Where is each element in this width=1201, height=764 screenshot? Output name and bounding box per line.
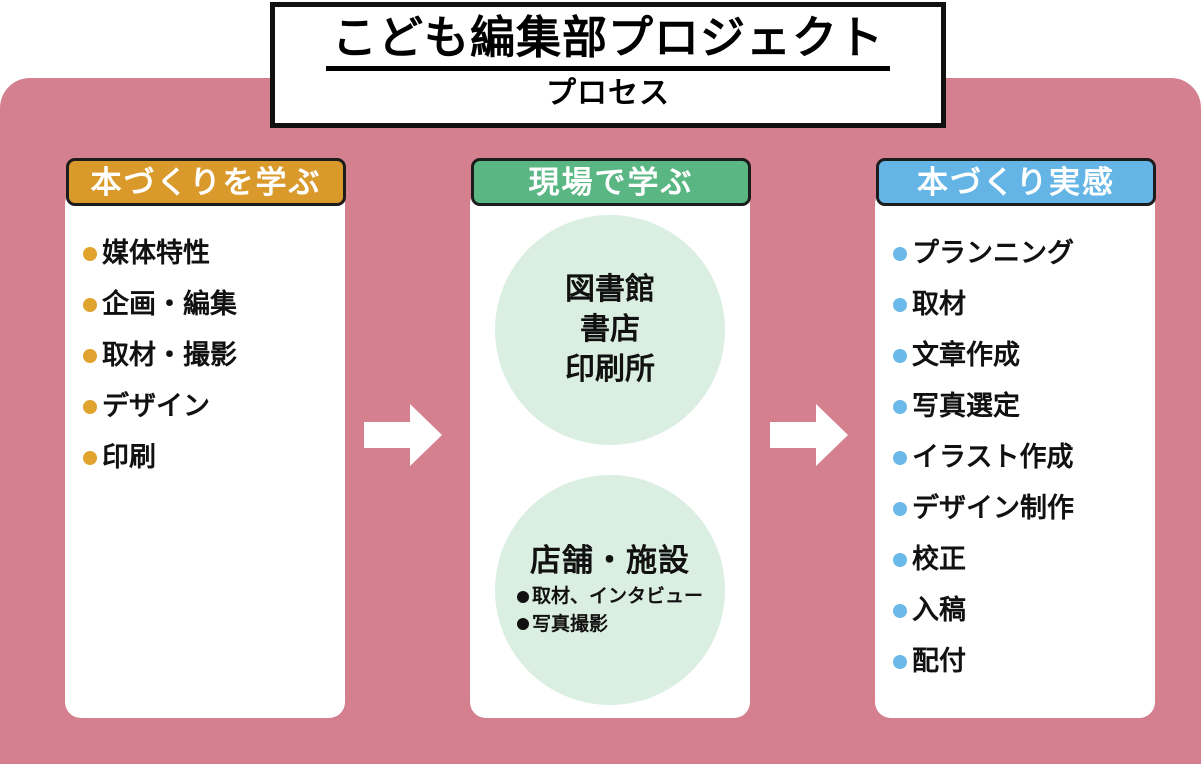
arrow-right-icon xyxy=(364,404,442,466)
list-item: 印刷 xyxy=(65,432,345,483)
column-1-list: 媒体特性 企画・編集 取材・撮影 デザイン 印刷 xyxy=(65,228,345,483)
venue-line: 図書館 xyxy=(565,270,655,310)
list-item: 写真選定 xyxy=(875,381,1155,432)
bullet-dot-icon xyxy=(893,655,907,669)
list-item: 写真撮影 xyxy=(517,611,703,639)
bullet-dot-icon xyxy=(83,298,97,312)
list-item-label: 文章作成 xyxy=(912,342,1020,369)
venue-activity-list: 取材、インタビュー 写真撮影 xyxy=(517,583,703,638)
list-item: 取材 xyxy=(875,279,1155,330)
column-header-1-label: 本づくりを学ぶ xyxy=(91,167,322,198)
title-box: こども編集部プロジェクト プロセス xyxy=(270,2,946,128)
bullet-dot-icon xyxy=(83,400,97,414)
list-item: 文章作成 xyxy=(875,330,1155,381)
list-item-label: プランニング xyxy=(912,240,1074,267)
venue-line: 印刷所 xyxy=(565,350,655,390)
column-header-2: 現場で学ぶ xyxy=(471,158,751,206)
arrow-right-icon xyxy=(770,404,848,466)
list-item: 企画・編集 xyxy=(65,279,345,330)
list-item-label: デザイン制作 xyxy=(912,495,1074,522)
venue-circle-title: 店舗・施設 xyxy=(530,542,690,579)
list-item-label: 企画・編集 xyxy=(102,291,237,318)
list-item-label: デザイン xyxy=(102,393,210,420)
list-item: 取材、インタビュー xyxy=(517,583,703,611)
column-header-3: 本づくり実感 xyxy=(876,158,1156,206)
list-item-label: 入稿 xyxy=(912,597,966,624)
list-item-label: 校正 xyxy=(912,546,966,573)
list-item-label: 取材 xyxy=(912,291,966,318)
diagram-canvas: こども編集部プロジェクト プロセス 本づくりを学ぶ 現場で学ぶ 本づくり実感 媒… xyxy=(0,0,1201,764)
list-item-label: 媒体特性 xyxy=(102,240,210,267)
list-item: 媒体特性 xyxy=(65,228,345,279)
column-header-3-label: 本づくり実感 xyxy=(917,167,1115,198)
list-item: 取材・撮影 xyxy=(65,330,345,381)
page-title: こども編集部プロジェクト xyxy=(326,11,890,71)
bullet-dot-icon xyxy=(893,349,907,363)
bullet-dot-icon xyxy=(893,451,907,465)
bullet-dot-icon xyxy=(893,298,907,312)
bullet-dot-icon xyxy=(83,247,97,261)
list-item-label: 写真撮影 xyxy=(532,611,608,639)
bullet-dot-icon xyxy=(893,400,907,414)
list-item: 配付 xyxy=(875,636,1155,687)
bullet-dot-icon xyxy=(517,591,529,603)
list-item-label: 配付 xyxy=(912,648,966,675)
list-item-label: 取材、インタビュー xyxy=(532,583,703,611)
bullet-dot-icon xyxy=(83,451,97,465)
bullet-dot-icon xyxy=(893,604,907,618)
list-item: イラスト作成 xyxy=(875,432,1155,483)
list-item-label: 印刷 xyxy=(102,444,156,471)
column-3-list: プランニング 取材 文章作成 写真選定 イラスト作成 デザイン制作 校正 入稿 … xyxy=(875,228,1155,687)
venue-circle-bottom: 店舗・施設 取材、インタビュー 写真撮影 xyxy=(495,475,725,705)
list-item: 校正 xyxy=(875,534,1155,585)
list-item: プランニング xyxy=(875,228,1155,279)
list-item: 入稿 xyxy=(875,585,1155,636)
bullet-dot-icon xyxy=(893,502,907,516)
page-subtitle: プロセス xyxy=(546,75,670,113)
list-item-label: イラスト作成 xyxy=(912,444,1073,471)
bullet-dot-icon xyxy=(893,247,907,261)
bullet-dot-icon xyxy=(517,618,529,630)
list-item: デザイン xyxy=(65,381,345,432)
list-item-label: 取材・撮影 xyxy=(102,342,237,369)
column-header-2-label: 現場で学ぶ xyxy=(529,167,694,198)
venue-line: 書店 xyxy=(580,310,640,350)
list-item: デザイン制作 xyxy=(875,483,1155,534)
list-item-label: 写真選定 xyxy=(912,393,1020,420)
bullet-dot-icon xyxy=(893,553,907,567)
column-header-1: 本づくりを学ぶ xyxy=(66,158,346,206)
venue-circle-top: 図書館 書店 印刷所 xyxy=(495,215,725,445)
bullet-dot-icon xyxy=(83,349,97,363)
